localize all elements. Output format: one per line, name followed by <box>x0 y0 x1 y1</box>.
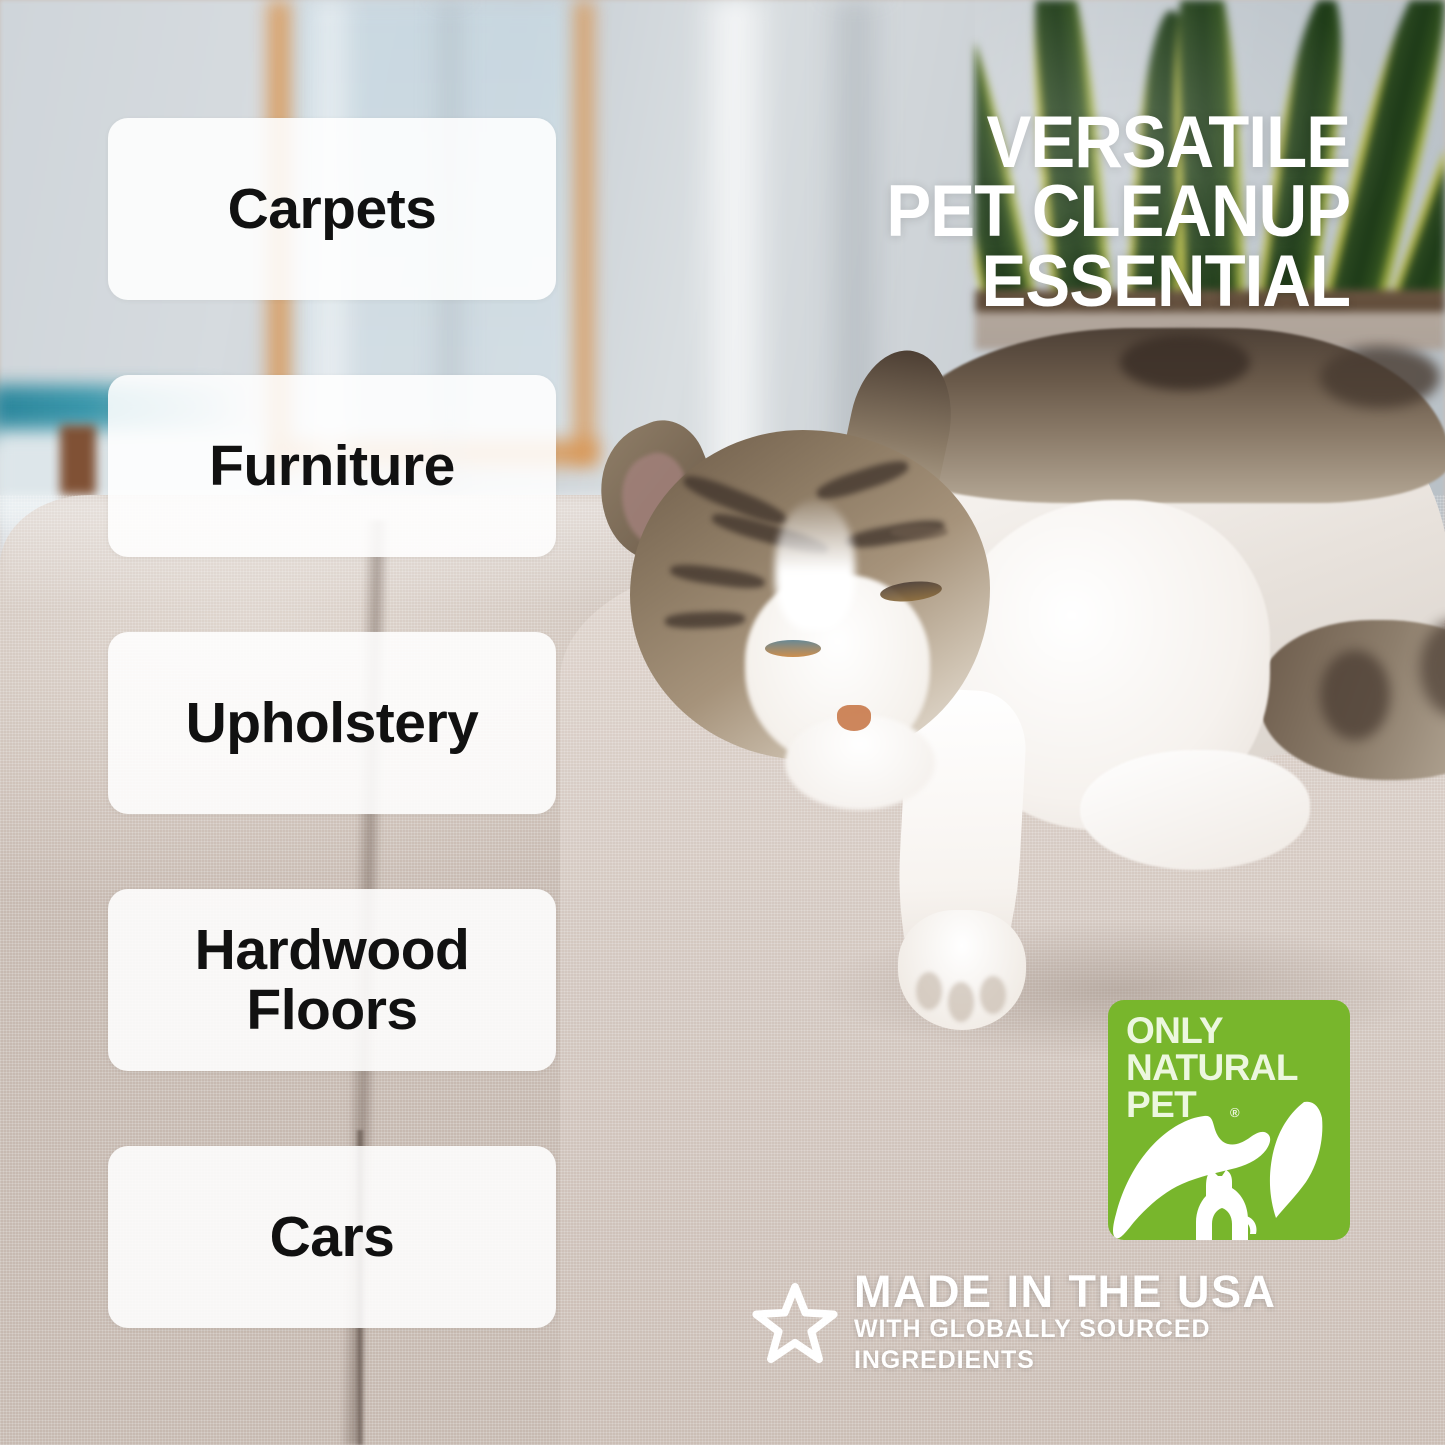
surface-list: Carpets Furniture Upholstery Hardwood Fl… <box>108 118 556 1328</box>
surface-pill-label: Hardwood Floors <box>108 920 556 1041</box>
surface-pill-cars: Cars <box>108 1146 556 1328</box>
made-in-usa-secondary: WITH GLOBALLY SOURCED INGREDIENTS <box>854 1314 1362 1377</box>
made-in-usa-badge: MADE IN THE USA WITH GLOBALLY SOURCED IN… <box>752 1270 1362 1375</box>
surface-pill-furniture: Furniture <box>108 375 556 557</box>
surface-pill-label: Upholstery <box>168 693 497 753</box>
surface-pill-label: Furniture <box>191 436 473 496</box>
product-feature-image: VERSATILE PET CLEANUP ESSENTIAL Carpets … <box>0 0 1445 1445</box>
brand-logo: ONLY NATURAL PET ® <box>1108 1000 1350 1240</box>
brown-object-blur <box>60 425 96 497</box>
made-in-usa-text: MADE IN THE USA WITH GLOBALLY SOURCED IN… <box>854 1269 1362 1377</box>
cat-photo-subject <box>560 320 1445 1020</box>
surface-pill-upholstery: Upholstery <box>108 632 556 814</box>
dog-cat-leaf-silhouette-icon <box>1108 1096 1350 1240</box>
surface-pill-hardwood-floors: Hardwood Floors <box>108 889 556 1071</box>
surface-pill-label: Carpets <box>210 179 455 239</box>
surface-pill-carpets: Carpets <box>108 118 556 300</box>
star-outline-icon <box>752 1280 838 1366</box>
page-title: VERSATILE PET CLEANUP ESSENTIAL <box>886 108 1350 316</box>
surface-pill-label: Cars <box>252 1207 413 1267</box>
made-in-usa-primary: MADE IN THE USA <box>854 1269 1362 1314</box>
